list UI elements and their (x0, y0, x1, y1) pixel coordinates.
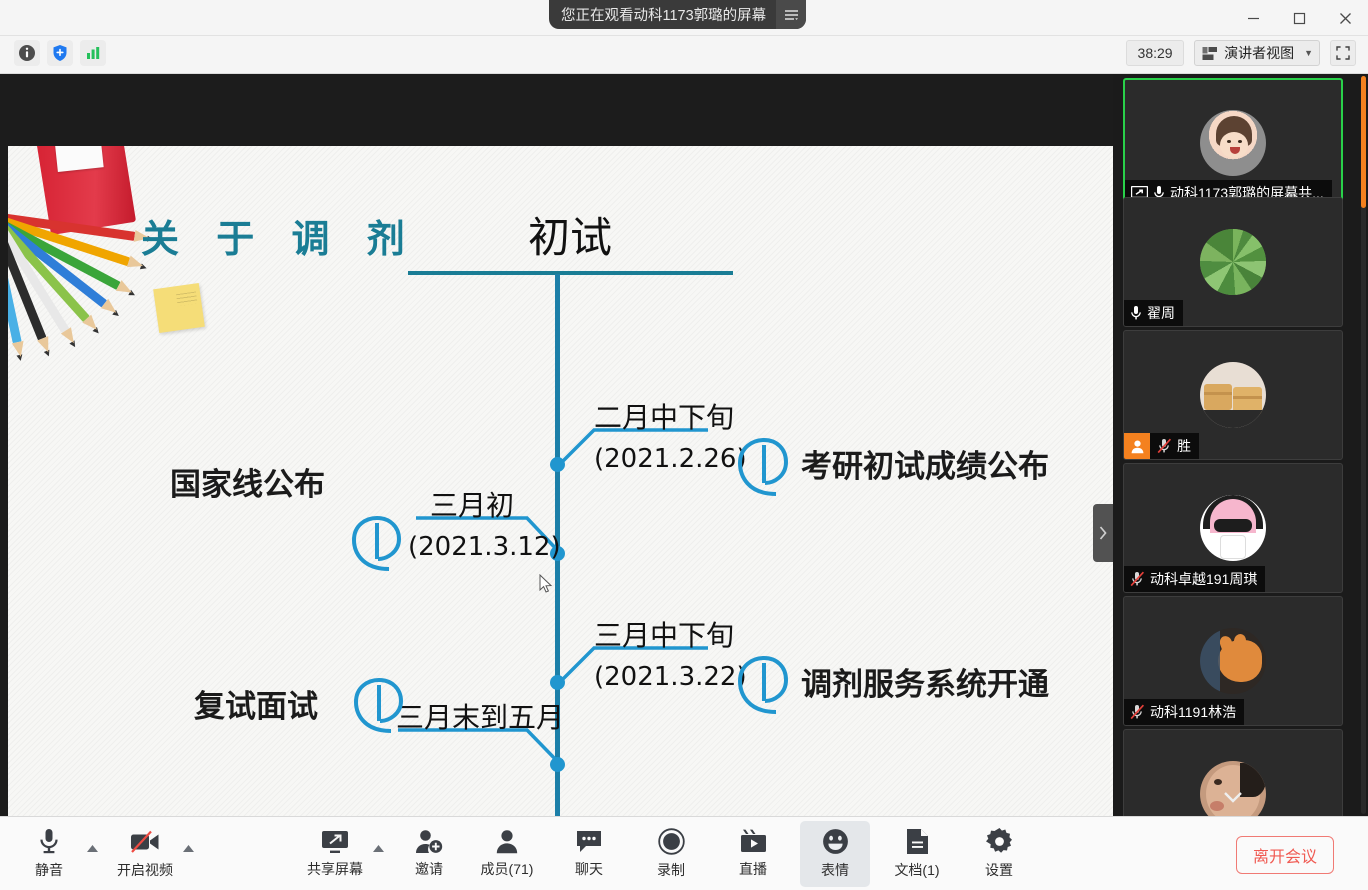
event-when: 三月初 (430, 484, 561, 524)
participant-name: 胜 (1177, 436, 1191, 456)
mute-button[interactable]: 静音 (14, 821, 84, 887)
chevron-down-icon: ▼ (1304, 48, 1313, 58)
document-label: 文档(1) (894, 860, 939, 880)
bottom-center-group: 共享屏幕 邀请 (300, 817, 1034, 890)
settings-button[interactable]: 设置 (964, 821, 1034, 887)
video-options-caret[interactable] (180, 821, 196, 887)
toolbar-right-group: 38:29 演讲者视图 ▼ (1126, 40, 1356, 66)
timeline-event: 三月中下旬 (2021.3.22) (594, 614, 747, 692)
meeting-window: 您正在观看动科1173郭璐的屏幕 (0, 0, 1368, 890)
event-headline: 考研初试成绩公布 (801, 441, 1049, 486)
event-date: (2021.2.26) (594, 444, 747, 474)
document-icon (906, 828, 929, 855)
emoji-button[interactable]: 表情 (800, 821, 870, 887)
audio-options-caret[interactable] (84, 821, 100, 887)
hamburger-icon[interactable] (776, 0, 806, 29)
event-date: (2021.3.12) (408, 532, 561, 562)
live-label: 直播 (739, 859, 767, 879)
avatar (1200, 110, 1266, 176)
shield-plus-icon[interactable] (47, 40, 73, 66)
participant-namebar: 翟周 (1124, 300, 1183, 326)
view-mode-label: 演讲者视图 (1224, 43, 1294, 63)
avatar (1200, 362, 1266, 428)
participant-scrollbar-thumb[interactable] (1361, 76, 1366, 208)
share-screen-icon (321, 830, 349, 854)
chat-label: 聊天 (575, 859, 603, 879)
invite-button[interactable]: 邀请 (394, 821, 464, 887)
record-label: 录制 (657, 860, 685, 880)
chevron-down-icon[interactable] (1211, 782, 1255, 812)
participants-button[interactable]: 成员(71) (472, 821, 542, 887)
mute-label: 静音 (35, 860, 63, 880)
start-video-label: 开启视频 (117, 860, 173, 880)
event-headline: 复试面试 (194, 681, 318, 726)
slide-section-title: 初试 (528, 204, 612, 265)
timeline-dot (550, 675, 565, 690)
leave-meeting-button[interactable]: 离开会议 (1236, 836, 1334, 874)
participant-tile[interactable]: 胜 (1123, 330, 1343, 460)
video-off-icon (130, 829, 160, 855)
screen-share-banner-text: 您正在观看动科1173郭璐的屏幕 (561, 4, 776, 25)
meeting-timer: 38:29 (1126, 40, 1184, 66)
maximize-icon[interactable] (1276, 0, 1322, 36)
shared-screen-stage: 关 于 调 剂 初试 二月中下旬 (2021.2.26) (0, 74, 1113, 816)
layout-icon (1202, 46, 1218, 61)
mouse-cursor (539, 574, 553, 594)
pencils-decoration (8, 146, 156, 291)
start-video-button[interactable]: 开启视频 (110, 821, 180, 887)
event-when: 三月中下旬 (594, 614, 747, 654)
microphone-icon (1130, 305, 1142, 321)
event-headline: 国家线公布 (170, 459, 325, 504)
participant-namebar: 胜 (1124, 433, 1199, 459)
shared-slide: 关 于 调 剂 初试 二月中下旬 (2021.2.26) (8, 146, 1113, 843)
microphone-icon (37, 828, 61, 855)
settings-icon (986, 828, 1013, 855)
document-button[interactable]: 文档(1) (882, 821, 952, 887)
close-icon[interactable] (1322, 0, 1368, 36)
share-screen-button[interactable]: 共享屏幕 (300, 821, 370, 887)
bottom-toolbar: 静音 开启视频 (0, 816, 1368, 890)
avatar (1200, 495, 1266, 561)
slide-brand-title: 关 于 调 剂 (141, 208, 417, 263)
timeline-dot (550, 457, 565, 472)
participant-tile[interactable]: 动科卓越191周琪 (1123, 463, 1343, 593)
microphone-muted-icon (1130, 704, 1145, 720)
share-options-caret[interactable] (370, 821, 386, 887)
chat-icon (576, 830, 603, 854)
participant-tile[interactable]: 动科1191林浩 (1123, 596, 1343, 726)
settings-label: 设置 (985, 860, 1013, 880)
minimize-icon[interactable] (1230, 0, 1276, 36)
participants-label: 成员(71) (481, 859, 534, 879)
sticky-note-graphic (153, 283, 205, 333)
event-when: 二月中下旬 (594, 396, 747, 436)
title-bar: 您正在观看动科1173郭璐的屏幕 (0, 0, 1368, 36)
event-when: 三月末到五月 (396, 696, 564, 736)
meeting-toolbar: 38:29 演讲者视图 ▼ (0, 36, 1368, 74)
invite-icon (415, 829, 443, 854)
record-icon (658, 828, 685, 855)
participant-namebar: 动科卓越191周琪 (1124, 566, 1265, 592)
bottom-left-group: 静音 开启视频 (14, 817, 196, 890)
quote-mark-icon (349, 514, 403, 578)
window-controls (1230, 0, 1368, 36)
screen-share-banner[interactable]: 您正在观看动科1173郭璐的屏幕 (549, 0, 806, 29)
view-mode-selector[interactable]: 演讲者视图 ▼ (1194, 40, 1320, 66)
timeline-event: 三月末到五月 (396, 696, 564, 744)
participant-namebar: 动科1191林浩 (1124, 699, 1244, 725)
quote-mark-icon (351, 676, 405, 740)
live-icon (740, 829, 767, 854)
avatar (1200, 628, 1266, 694)
participant-tile[interactable]: 动科1173郭璐的屏幕共... (1123, 78, 1343, 208)
avatar (1200, 229, 1266, 295)
timeline-event: 三月初 (2021.3.12) (430, 484, 561, 562)
info-icon[interactable] (14, 40, 40, 66)
fullscreen-icon[interactable] (1330, 40, 1356, 66)
toolbar-left-icons (14, 40, 106, 66)
participant-name: 动科卓越191周琪 (1150, 569, 1257, 589)
record-button[interactable]: 录制 (636, 821, 706, 887)
emoji-label: 表情 (821, 860, 849, 880)
invite-label: 邀请 (415, 859, 443, 879)
event-date: (2021.3.22) (594, 662, 747, 692)
timeline-event: 二月中下旬 (2021.2.26) (594, 396, 747, 474)
chat-button[interactable]: 聊天 (554, 821, 624, 887)
share-screen-label: 共享屏幕 (307, 859, 363, 879)
participants-icon (494, 829, 520, 854)
quote-mark-icon (734, 436, 792, 504)
participant-name: 动科1191林浩 (1150, 702, 1236, 722)
microphone-muted-icon (1157, 438, 1172, 454)
signal-bars-icon[interactable] (80, 40, 106, 66)
host-badge-icon (1124, 433, 1150, 459)
event-headline: 调剂服务系统开通 (801, 659, 1049, 704)
live-button[interactable]: 直播 (718, 821, 788, 887)
participant-name: 翟周 (1147, 303, 1175, 323)
section-title-rule (408, 271, 733, 275)
microphone-muted-icon (1130, 571, 1145, 587)
chevron-right-icon[interactable] (1093, 504, 1113, 562)
emoji-icon (822, 828, 849, 855)
timeline-dot (550, 757, 565, 772)
participant-strip[interactable]: 动科1173郭璐的屏幕共... 翟周 (1113, 74, 1368, 816)
participant-tile[interactable]: 翟周 (1123, 197, 1343, 327)
quote-mark-icon (734, 654, 792, 722)
